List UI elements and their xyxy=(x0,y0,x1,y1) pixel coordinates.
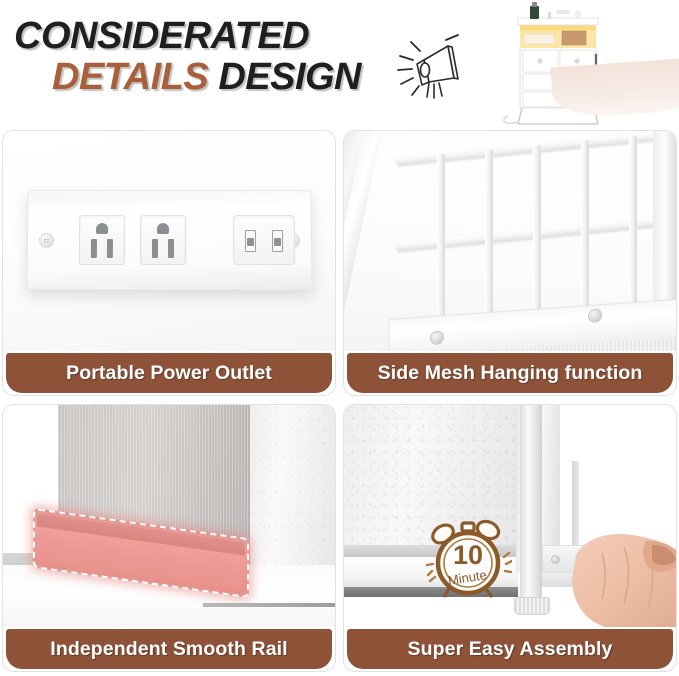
caption-portable-power-outlet: Portable Power Outlet xyxy=(6,353,332,393)
usb-port-group xyxy=(233,215,295,265)
mounting-screw-left-icon xyxy=(39,233,54,248)
mesh-bar-4 xyxy=(581,140,589,319)
page-title: CONSIDERATED DETAILS DESIGN xyxy=(14,18,414,96)
base-trim-line xyxy=(203,603,335,607)
assembly-art: 10 Minute xyxy=(344,405,676,627)
mesh-bar-3 xyxy=(533,145,541,324)
caption-independent-smooth-rail: Independent Smooth Rail xyxy=(6,629,332,669)
ac-outlet-2-icon xyxy=(140,215,186,265)
infographic-root: CONSIDERATED DETAILS DESIGN xyxy=(0,0,679,676)
panel-portable-power-outlet[interactable]: Portable Power Outlet xyxy=(2,130,336,396)
usb-port-1-icon xyxy=(245,230,256,252)
title-line-2: DETAILS DESIGN xyxy=(52,59,414,96)
usb-port-2-icon xyxy=(272,230,283,252)
panel-independent-smooth-rail[interactable]: Independent Smooth Rail xyxy=(2,404,336,672)
mesh-bar-5 xyxy=(629,135,637,314)
megaphone-icon xyxy=(396,34,476,114)
mesh-bar-1 xyxy=(437,154,445,333)
ten-minute-badge: 10 Minute xyxy=(426,517,512,603)
panel-side-mesh-hanging[interactable]: Side Mesh Hanging function xyxy=(343,130,677,396)
smooth-rail-art xyxy=(3,405,335,627)
title-design-word: DESIGN xyxy=(218,56,361,98)
frame-leg xyxy=(520,405,542,601)
product-photo xyxy=(494,0,679,128)
caption-side-mesh-hanging: Side Mesh Hanging function xyxy=(347,353,673,393)
assembling-hand xyxy=(562,513,676,627)
header: CONSIDERATED DETAILS DESIGN xyxy=(0,0,679,128)
title-line-1: CONSIDERATED xyxy=(14,18,414,55)
title-details-word: DETAILS xyxy=(52,56,208,98)
side-mesh-art xyxy=(344,131,676,351)
decorative-swoosh xyxy=(550,56,679,119)
bracket-screw-icon xyxy=(551,555,560,564)
base-screw-right-icon xyxy=(588,308,602,323)
power-outlet-art xyxy=(3,131,335,351)
caption-super-easy-assembly: Super Easy Assembly xyxy=(347,629,673,669)
badge-number: 10 xyxy=(453,540,483,570)
adjustable-foot xyxy=(514,597,550,615)
mesh-bar-2 xyxy=(485,149,493,328)
power-strip-plate xyxy=(26,190,312,290)
panel-super-easy-assembly[interactable]: 10 Minute Super Easy Assembly xyxy=(343,404,677,672)
ac-outlet-1-icon xyxy=(79,215,125,265)
base-screw-left-icon xyxy=(430,330,444,345)
